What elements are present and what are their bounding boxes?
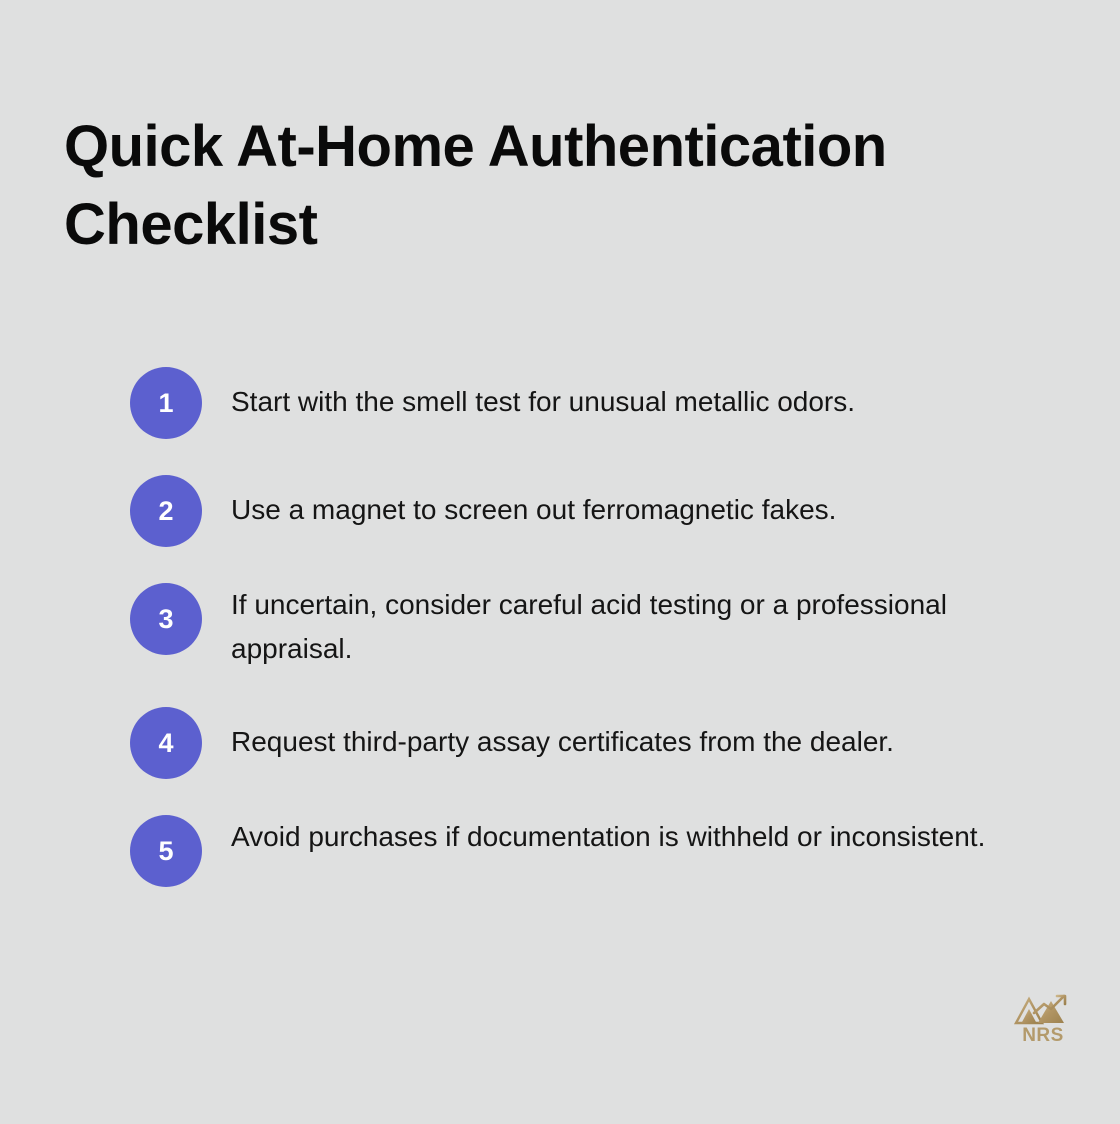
brand-logo: NRS (1014, 993, 1072, 1046)
list-item: 3 If uncertain, consider careful acid te… (130, 583, 1060, 671)
list-item: 4 Request third-party assay certificates… (130, 707, 1060, 779)
infographic-card: Quick At-Home Authentication Checklist 1… (0, 0, 1120, 1124)
list-item-label: If uncertain, consider careful acid test… (231, 583, 1060, 671)
step-number-badge: 3 (130, 583, 202, 655)
list-item: 5 Avoid purchases if documentation is wi… (130, 815, 1060, 887)
title-block: Quick At-Home Authentication Checklist (64, 108, 1054, 264)
mountain-arrow-icon (1014, 993, 1072, 1025)
page-title: Quick At-Home Authentication Checklist (64, 108, 1054, 264)
list-item-label: Request third-party assay certificates f… (231, 707, 1060, 764)
step-number-badge: 2 (130, 475, 202, 547)
list-item-label: Avoid purchases if documentation is with… (231, 815, 1060, 859)
step-number-badge: 1 (130, 367, 202, 439)
checklist: 1 Start with the smell test for unusual … (130, 367, 1060, 887)
brand-logo-text: NRS (1014, 1026, 1072, 1046)
list-item: 2 Use a magnet to screen out ferromagnet… (130, 475, 1060, 547)
list-item-label: Use a magnet to screen out ferromagnetic… (231, 475, 1060, 532)
step-number-badge: 5 (130, 815, 202, 887)
list-item: 1 Start with the smell test for unusual … (130, 367, 1060, 439)
list-item-label: Start with the smell test for unusual me… (231, 367, 1060, 424)
step-number-badge: 4 (130, 707, 202, 779)
